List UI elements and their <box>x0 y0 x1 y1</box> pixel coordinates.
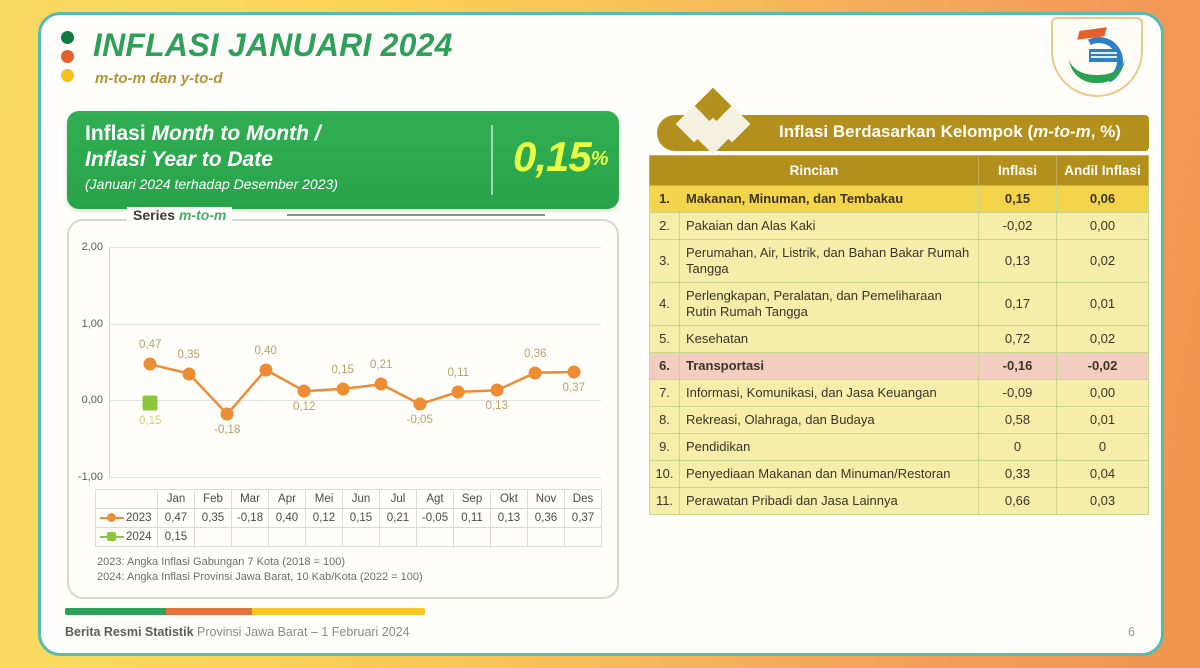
row-number: 1. <box>650 186 680 213</box>
group-table-title-italic: m-to-m <box>1033 122 1091 141</box>
chart-data-point <box>413 398 426 411</box>
chart-data-label-2024: 0,15 <box>139 415 161 427</box>
chart-table-cell: 0,37 <box>565 509 602 528</box>
row-inflasi-value: 0,72 <box>979 326 1057 353</box>
chart-table-cell <box>269 528 306 547</box>
row-category-name: Perumahan, Air, Listrik, dan Bahan Bakar… <box>680 240 979 283</box>
chart-data-label: 0,15 <box>332 364 354 376</box>
chart-table-cell <box>528 528 565 547</box>
chart-table-cell <box>343 528 380 547</box>
chart-table-cell: 0,15 <box>158 528 195 547</box>
chart-table-cell: 0,12 <box>306 509 343 528</box>
chart-table-cell <box>565 528 602 547</box>
row-category-name: Informasi, Komunikasi, dan Jasa Keuangan <box>680 380 979 407</box>
chart-note-1: 2023: Angka Inflasi Gabungan 7 Kota (201… <box>97 555 423 570</box>
chart-table-cell: 0,21 <box>380 509 417 528</box>
chart-data-point <box>567 365 580 378</box>
row-category-name: Perawatan Pribadi dan Jasa Lainnya <box>680 488 979 515</box>
row-number: 5. <box>650 326 680 353</box>
chart-data-label: 0,37 <box>563 382 585 394</box>
chart-table-cell <box>454 528 491 547</box>
yellow-dot-icon <box>61 69 74 82</box>
chart-note-2: 2024: Angka Inflasi Provinsi Jawa Barat,… <box>97 570 423 585</box>
row-number: 3. <box>650 240 680 283</box>
chart-series-label-plain: Series <box>133 207 179 223</box>
row-number: 6. <box>650 353 680 380</box>
bullet-dots-decoration <box>61 31 77 88</box>
highlight-line1-italic: Month to Month / <box>152 122 321 145</box>
chart-table-cell: 0,40 <box>269 509 306 528</box>
row-andil-value: 0,02 <box>1057 326 1149 353</box>
row-andil-value: 0,03 <box>1057 488 1149 515</box>
chart-table-cell <box>195 528 232 547</box>
table-row: 9.Pendidikan00 <box>650 434 1149 461</box>
column-header-rincian: Rincian <box>650 156 979 186</box>
chart-data-table: JanFebMarAprMeiJunJulAgtSepOktNovDes 202… <box>95 489 602 547</box>
legend-marker-2023-icon <box>100 517 124 519</box>
row-andil-value: 0,00 <box>1057 213 1149 240</box>
group-inflation-table: Rincian Inflasi Andil Inflasi 1.Makanan,… <box>649 155 1149 515</box>
legend-marker-2024-icon <box>100 536 124 538</box>
table-row: 2.Pakaian dan Alas Kaki-0,020,00 <box>650 213 1149 240</box>
table-row: 3.Perumahan, Air, Listrik, dan Bahan Bak… <box>650 240 1149 283</box>
chart-table-cell <box>417 528 454 547</box>
row-inflasi-value: 0,15 <box>979 186 1057 213</box>
table-row: 7.Informasi, Komunikasi, dan Jasa Keuang… <box>650 380 1149 407</box>
group-table-title: Inflasi Berdasarkan Kelompok (m-to-m, %) <box>779 122 1121 142</box>
chart-data-label: 0,40 <box>255 345 277 357</box>
chart-table-month-header: Nov <box>528 490 565 509</box>
row-andil-value: 0,02 <box>1057 240 1149 283</box>
row-inflasi-value: 0 <box>979 434 1057 461</box>
chart-table-month-header: Agt <box>417 490 454 509</box>
line-chart-plot: -1,000,001,002,000,470,35-0,180,400,120,… <box>109 247 601 477</box>
row-category-name: Kesehatan <box>680 326 979 353</box>
row-andil-value: 0,00 <box>1057 380 1149 407</box>
chart-data-point-2024 <box>143 395 158 410</box>
row-andil-value: -0,02 <box>1057 353 1149 380</box>
table-row: 4.Perlengkapan, Peralatan, dan Pemelihar… <box>650 283 1149 326</box>
chart-data-point <box>490 384 503 397</box>
highlight-value: 0,15% <box>513 133 608 181</box>
table-row: 10.Penyediaan Makanan dan Minuman/Restor… <box>650 461 1149 488</box>
row-inflasi-value: 0,13 <box>979 240 1057 283</box>
footer-bar-orange <box>166 608 252 615</box>
row-category-name: Pakaian dan Alas Kaki <box>680 213 979 240</box>
chart-data-label: -0,18 <box>214 424 240 436</box>
table-row: 5.Kesehatan0,720,02 <box>650 326 1149 353</box>
page-subtitle: m-to-m dan y-to-d <box>95 70 222 87</box>
inflation-highlight-card: Inflasi Month to Month / Inflasi Year to… <box>67 111 619 209</box>
row-inflasi-value: -0,02 <box>979 213 1057 240</box>
row-inflasi-value: 0,17 <box>979 283 1057 326</box>
chart-table-cell: 0,47 <box>158 509 195 528</box>
chart-data-label: 0,35 <box>178 349 200 361</box>
chart-table-cell <box>232 528 269 547</box>
chart-table-month-header: Jul <box>380 490 417 509</box>
highlight-divider <box>491 125 493 195</box>
chart-data-label: 0,47 <box>139 339 161 351</box>
chart-title-rule <box>287 214 545 216</box>
row-inflasi-value: 0,66 <box>979 488 1057 515</box>
chart-data-point <box>221 408 234 421</box>
row-inflasi-value: 0,33 <box>979 461 1057 488</box>
chart-table-cell: 0,35 <box>195 509 232 528</box>
chart-series-label: Series m-to-m <box>127 207 232 223</box>
row-category-name: Pendidikan <box>680 434 979 461</box>
chart-table-cell <box>380 528 417 547</box>
row-andil-value: 0 <box>1057 434 1149 461</box>
chart-table-cell: 0,15 <box>343 509 380 528</box>
chart-table-cell <box>306 528 343 547</box>
chart-table-series-name: 2024 <box>96 528 158 547</box>
chart-data-point <box>298 385 311 398</box>
chart-table-corner <box>96 490 158 509</box>
chart-data-label: 0,36 <box>524 348 546 360</box>
chart-table-month-header: Okt <box>491 490 528 509</box>
row-category-name: Perlengkapan, Peralatan, dan Pemeliharaa… <box>680 283 979 326</box>
row-number: 8. <box>650 407 680 434</box>
row-inflasi-value: -0,16 <box>979 353 1057 380</box>
chart-table-cell: -0,05 <box>417 509 454 528</box>
chart-y-tick-label: 2,00 <box>82 241 103 253</box>
footer-text-rest: Provinsi Jawa Barat – 1 Februari 2024 <box>194 625 410 639</box>
row-category-name: Makanan, Minuman, dan Tembakau <box>680 186 979 213</box>
chart-table-cell: 0,36 <box>528 509 565 528</box>
footer-text-bold: Berita Resmi Statistik <box>65 625 194 639</box>
chart-table-row: 20240,15 <box>96 528 602 547</box>
group-table-body: 1.Makanan, Minuman, dan Tembakau0,150,06… <box>650 186 1149 515</box>
highlight-line1-plain: Inflasi <box>85 122 152 145</box>
footer-text: Berita Resmi Statistik Provinsi Jawa Bar… <box>65 625 410 639</box>
chart-table-cell: -0,18 <box>232 509 269 528</box>
highlight-text: Inflasi Month to Month / Inflasi Year to… <box>85 121 475 195</box>
chart-line-path <box>109 247 601 477</box>
chart-table-month-header: Feb <box>195 490 232 509</box>
slide-header: INFLASI JANUARI 2024 m-to-m dan y-to-d <box>41 15 1161 97</box>
chart-table-month-header: Des <box>565 490 602 509</box>
chart-data-label: 0,13 <box>486 400 508 412</box>
row-inflasi-value: -0,09 <box>979 380 1057 407</box>
footer-bar-green <box>65 608 166 615</box>
chart-data-label: 0,12 <box>293 401 315 413</box>
chart-gridline <box>109 477 601 478</box>
chart-table-row: 20230,470,35-0,180,400,120,150,21-0,050,… <box>96 509 602 528</box>
chart-data-label: -0,05 <box>407 414 433 426</box>
row-category-name: Penyediaan Makanan dan Minuman/Restoran <box>680 461 979 488</box>
chart-data-label: 0,11 <box>447 367 469 379</box>
row-andil-value: 0,06 <box>1057 186 1149 213</box>
column-header-andil-inflasi: Andil Inflasi <box>1057 156 1149 186</box>
chart-card: Series m-to-m -1,000,001,002,000,470,35-… <box>67 219 619 599</box>
bps-logo-icon <box>1051 17 1143 97</box>
chart-table-cell: 0,11 <box>454 509 491 528</box>
chart-table-month-header: Sep <box>454 490 491 509</box>
table-row: 1.Makanan, Minuman, dan Tembakau0,150,06 <box>650 186 1149 213</box>
chart-table-month-header: Mar <box>232 490 269 509</box>
chart-table-cell: 0,13 <box>491 509 528 528</box>
group-table-title-part2: , %) <box>1091 122 1121 141</box>
chart-y-tick-label: -1,00 <box>78 471 103 483</box>
highlight-line3: (Januari 2024 terhadap Desember 2023) <box>85 173 475 195</box>
page-title: INFLASI JANUARI 2024 <box>93 27 453 64</box>
row-category-name: Transportasi <box>680 353 979 380</box>
row-andil-value: 0,01 <box>1057 283 1149 326</box>
row-category-name: Rekreasi, Olahraga, dan Budaya <box>680 407 979 434</box>
chart-data-point <box>336 382 349 395</box>
column-header-inflasi: Inflasi <box>979 156 1057 186</box>
chart-data-point <box>529 366 542 379</box>
logo-bar-shape <box>1089 49 1119 62</box>
highlight-value-unit: % <box>591 148 608 170</box>
chart-table-month-header: Jan <box>158 490 195 509</box>
orange-dot-icon <box>61 50 74 63</box>
chart-data-point <box>182 367 195 380</box>
highlight-line2: Inflasi Year to Date <box>85 147 475 173</box>
chart-table-header-row: JanFebMarAprMeiJunJulAgtSepOktNovDes <box>96 490 602 509</box>
chart-data-point <box>259 363 272 376</box>
chart-table-body: 20230,470,35-0,180,400,120,150,21-0,050,… <box>96 509 602 547</box>
table-row: 8.Rekreasi, Olahraga, dan Budaya0,580,01 <box>650 407 1149 434</box>
chart-data-point <box>144 358 157 371</box>
footer-color-bar <box>65 608 425 615</box>
row-andil-value: 0,04 <box>1057 461 1149 488</box>
row-number: 11. <box>650 488 680 515</box>
chart-data-point <box>452 385 465 398</box>
chart-table-series-name: 2023 <box>96 509 158 528</box>
slide: INFLASI JANUARI 2024 m-to-m dan y-to-d I… <box>38 12 1164 656</box>
chart-notes: 2023: Angka Inflasi Gabungan 7 Kota (201… <box>97 555 423 585</box>
footer-bar-yellow <box>252 608 425 615</box>
chart-data-label: 0,21 <box>370 359 392 371</box>
table-row: 11.Perawatan Pribadi dan Jasa Lainnya0,6… <box>650 488 1149 515</box>
chart-series-label-italic: m-to-m <box>179 207 226 223</box>
group-table-header-row: Rincian Inflasi Andil Inflasi <box>650 156 1149 186</box>
chart-data-point <box>375 378 388 391</box>
row-number: 2. <box>650 213 680 240</box>
row-number: 10. <box>650 461 680 488</box>
chart-table-month-header: Jun <box>343 490 380 509</box>
chart-table-month-header: Mei <box>306 490 343 509</box>
row-number: 4. <box>650 283 680 326</box>
chart-y-tick-label: 1,00 <box>82 318 103 330</box>
highlight-line1: Inflasi Month to Month / <box>85 121 475 147</box>
group-table-title-banner: Inflasi Berdasarkan Kelompok (m-to-m, %) <box>649 97 1149 149</box>
page-number: 6 <box>1128 625 1135 639</box>
group-table-title-part1: Inflasi Berdasarkan Kelompok ( <box>779 122 1033 141</box>
chart-table-cell <box>491 528 528 547</box>
row-number: 9. <box>650 434 680 461</box>
row-inflasi-value: 0,58 <box>979 407 1057 434</box>
chart-table-month-header: Apr <box>269 490 306 509</box>
green-dot-icon <box>61 31 74 44</box>
highlight-value-number: 0,15 <box>513 133 591 180</box>
chart-y-tick-label: 0,00 <box>82 394 103 406</box>
row-andil-value: 0,01 <box>1057 407 1149 434</box>
diamond-cluster-icon <box>677 93 749 151</box>
table-row: 6.Transportasi-0,16-0,02 <box>650 353 1149 380</box>
row-number: 7. <box>650 380 680 407</box>
logo-emblem <box>1063 27 1131 79</box>
